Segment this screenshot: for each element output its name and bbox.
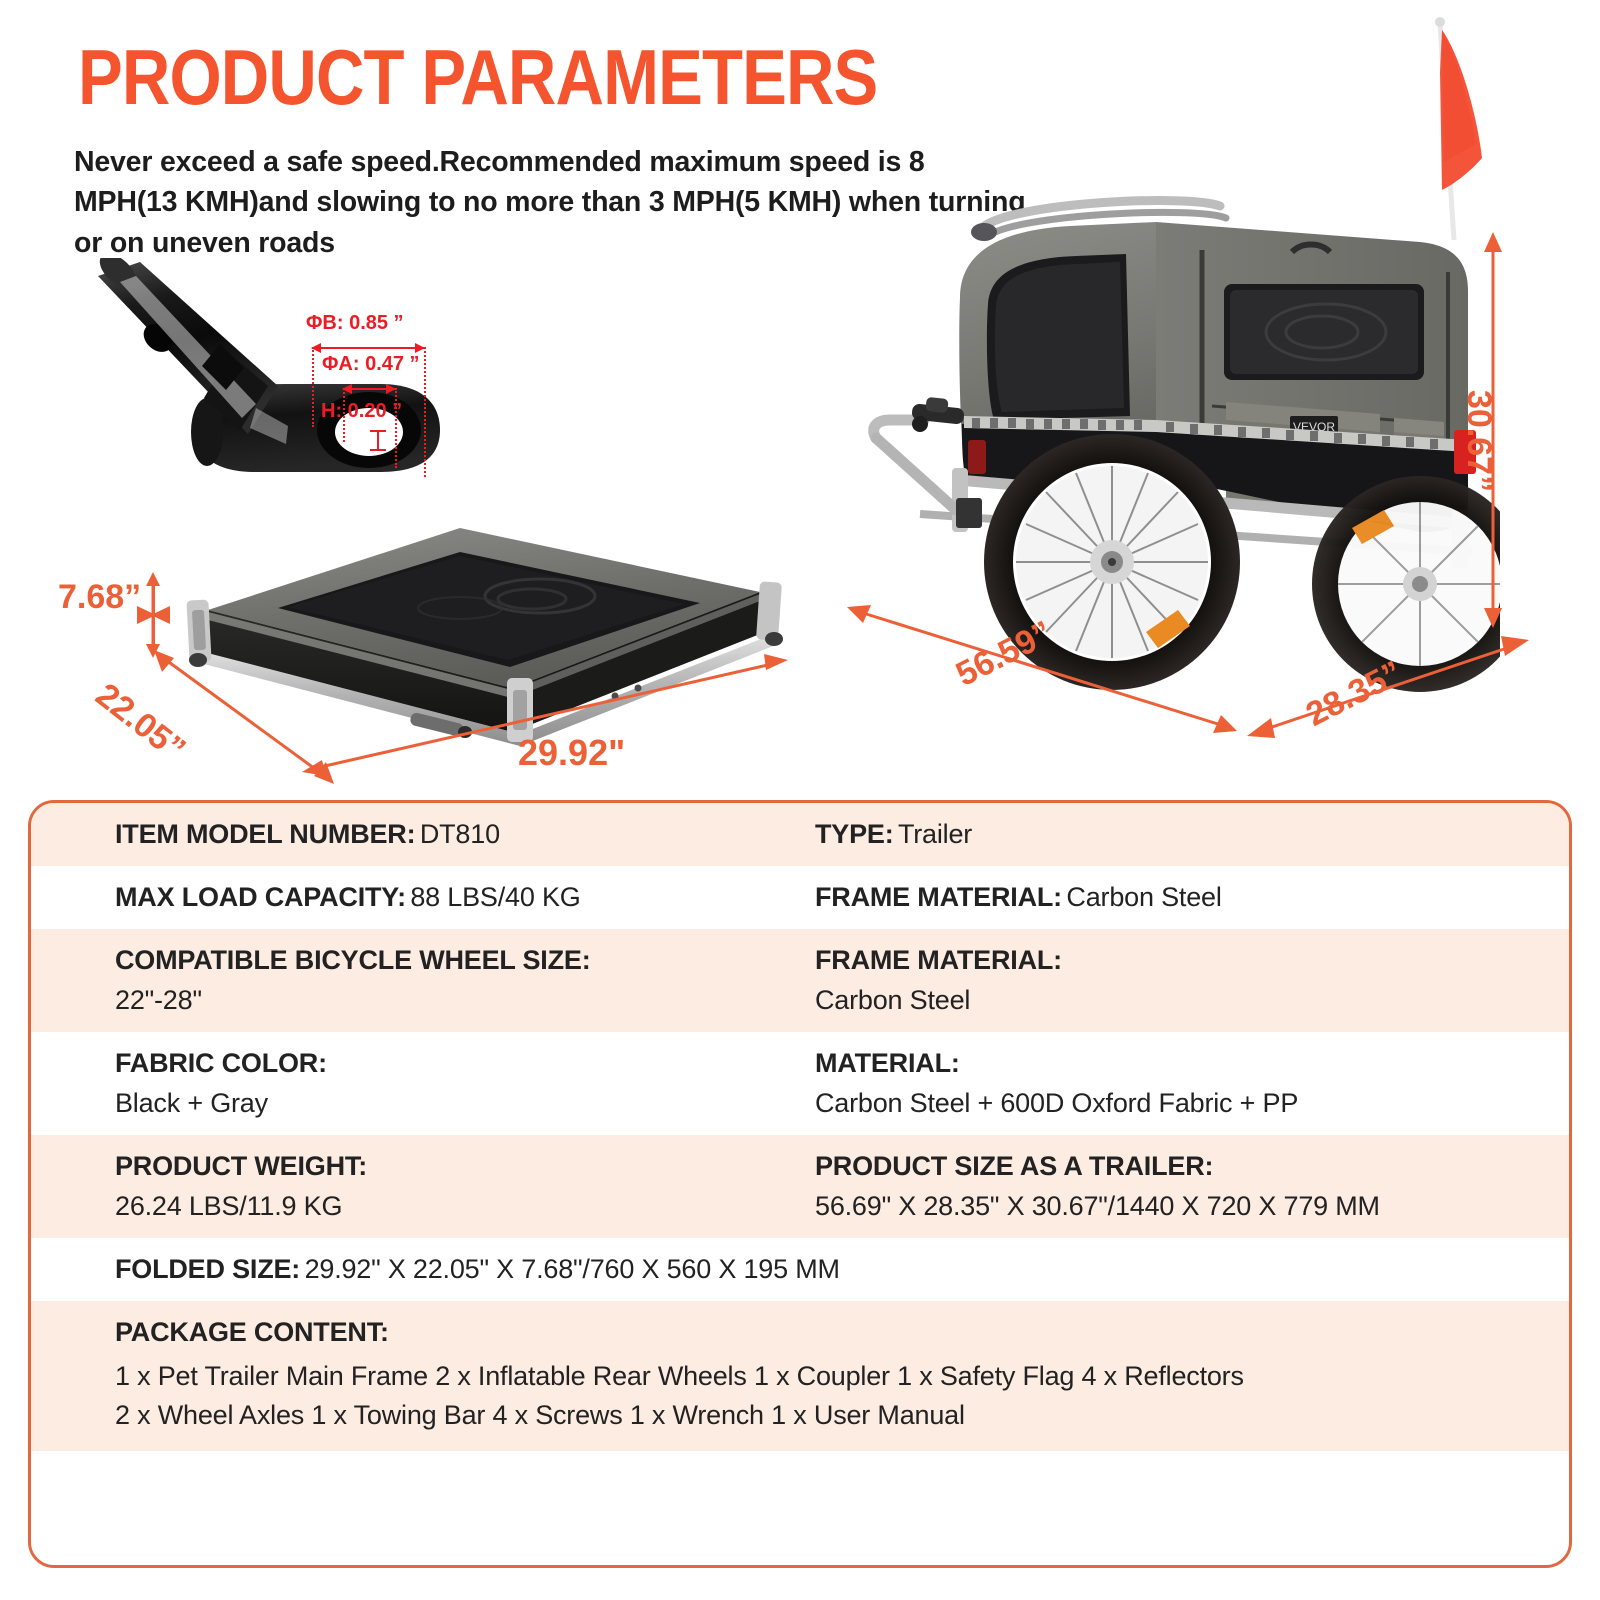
table-row: FABRIC COLOR: Black + Gray MATERIAL: Car… bbox=[31, 1032, 1569, 1135]
coupler-phi-b-arrow bbox=[312, 347, 424, 349]
spec-cell-product-size-as-a-trailer: PRODUCT SIZE AS A TRAILER: 56.69" X 28.3… bbox=[731, 1151, 1491, 1222]
spec-label: FRAME MATERIAL: bbox=[815, 945, 1491, 976]
spec-cell-material: MATERIAL: Carbon Steel + 600D Oxford Fab… bbox=[731, 1048, 1491, 1119]
spec-cell-frame-material-2: FRAME MATERIAL: Carbon Steel bbox=[731, 945, 1491, 1016]
safety-flag bbox=[1418, 12, 1498, 247]
spec-label: FRAME MATERIAL: bbox=[815, 882, 1062, 912]
spec-value: 88 LBS/40 KG bbox=[410, 882, 580, 912]
spec-value: Black + Gray bbox=[115, 1088, 731, 1119]
spec-value: Carbon Steel bbox=[1066, 882, 1221, 912]
coupler-phi-b-tick-left bbox=[312, 347, 314, 427]
table-row: COMPATIBLE BICYCLE WHEEL SIZE: 22"-28" F… bbox=[31, 929, 1569, 1032]
spec-cell-folded-size: FOLDED SIZE: 29.92" X 22.05" X 7.68"/760… bbox=[31, 1254, 1491, 1285]
spec-value: Carbon Steel + 600D Oxford Fabric + PP bbox=[815, 1088, 1491, 1119]
table-row: FOLDED SIZE: 29.92" X 22.05" X 7.68"/760… bbox=[31, 1238, 1569, 1301]
table-row: PACKAGE CONTENT: 1 x Pet Trailer Main Fr… bbox=[31, 1301, 1569, 1451]
spec-value: Trailer bbox=[898, 819, 972, 849]
spec-value: Carbon Steel bbox=[815, 985, 1491, 1016]
folded-width-arrow bbox=[300, 650, 790, 780]
page-title: PRODUCT PARAMETERS bbox=[78, 32, 877, 123]
spec-cell-fabric-color: FABRIC COLOR: Black + Gray bbox=[31, 1048, 731, 1119]
spec-cell-type: TYPE: Trailer bbox=[731, 819, 1491, 850]
trailer-height-arrow bbox=[1478, 230, 1508, 630]
spec-value: 29.92" X 22.05" X 7.68"/760 X 560 X 195 … bbox=[305, 1254, 840, 1284]
spec-cell-max-load-capacity: MAX LOAD CAPACITY: 88 LBS/40 KG bbox=[31, 882, 731, 913]
table-row: MAX LOAD CAPACITY: 88 LBS/40 KG FRAME MA… bbox=[31, 866, 1569, 929]
folded-height-arrow bbox=[152, 576, 155, 654]
spec-label: PRODUCT SIZE AS A TRAILER: bbox=[815, 1151, 1491, 1182]
spec-cell-package-content: PACKAGE CONTENT: 1 x Pet Trailer Main Fr… bbox=[31, 1317, 1491, 1435]
table-row: ITEM MODEL NUMBER: DT810 TYPE: Trailer bbox=[31, 803, 1569, 866]
spec-value: 56.69" X 28.35" X 30.67"/1440 X 720 X 77… bbox=[815, 1191, 1491, 1222]
package-content-line-2: 2 x Wheel Axles 1 x Towing Bar 4 x Screw… bbox=[115, 1396, 1491, 1435]
package-content-line-1: 1 x Pet Trailer Main Frame 2 x Inflatabl… bbox=[115, 1357, 1491, 1396]
coupler-phi-a-arrow bbox=[343, 388, 395, 390]
coupler-phi-a-label: ΦA: 0.47 ” bbox=[322, 353, 420, 376]
spec-value: 26.24 LBS/11.9 KG bbox=[115, 1191, 731, 1222]
spec-value: 22"-28" bbox=[115, 985, 731, 1016]
spec-label: FABRIC COLOR: bbox=[115, 1048, 731, 1079]
coupler-h-tick-top bbox=[370, 430, 386, 432]
coupler-phi-b-tick-right bbox=[424, 347, 426, 477]
spec-cell-compatible-bicycle-wheel-size: COMPATIBLE BICYCLE WHEEL SIZE: 22"-28" bbox=[31, 945, 731, 1016]
coupler-h-arrow bbox=[377, 432, 379, 450]
spec-label: MATERIAL: bbox=[815, 1048, 1491, 1079]
spec-cell-item-model-number: ITEM MODEL NUMBER: DT810 bbox=[31, 819, 731, 850]
spec-label: TYPE: bbox=[815, 819, 894, 849]
spec-label: MAX LOAD CAPACITY: bbox=[115, 882, 406, 912]
spec-label: ITEM MODEL NUMBER: bbox=[115, 819, 415, 849]
coupler-h-tick-bottom bbox=[370, 449, 386, 451]
spec-label: PACKAGE CONTENT: bbox=[115, 1317, 1491, 1348]
spec-label: FOLDED SIZE: bbox=[115, 1254, 300, 1284]
specification-table: ITEM MODEL NUMBER: DT810 TYPE: Trailer M… bbox=[28, 800, 1572, 1568]
trailer-width-arrow bbox=[1245, 620, 1535, 760]
spec-label: COMPATIBLE BICYCLE WHEEL SIZE: bbox=[115, 945, 731, 976]
trailer-length-arrow bbox=[845, 585, 1245, 745]
coupler-phi-b-label: ΦB: 0.85 ” bbox=[306, 312, 404, 335]
table-row: PRODUCT WEIGHT: 26.24 LBS/11.9 KG PRODUC… bbox=[31, 1135, 1569, 1238]
spec-label: PRODUCT WEIGHT: bbox=[115, 1151, 731, 1182]
coupler-h-label: H: 0.20 ” bbox=[321, 400, 402, 423]
spec-value: DT810 bbox=[420, 819, 500, 849]
folded-height-label: 7.68” bbox=[58, 578, 141, 617]
spec-cell-frame-material: FRAME MATERIAL: Carbon Steel bbox=[731, 882, 1491, 913]
product-parameters-page: PRODUCT PARAMETERS Never exceed a safe s… bbox=[0, 0, 1600, 1600]
spec-cell-product-weight: PRODUCT WEIGHT: 26.24 LBS/11.9 KG bbox=[31, 1151, 731, 1222]
